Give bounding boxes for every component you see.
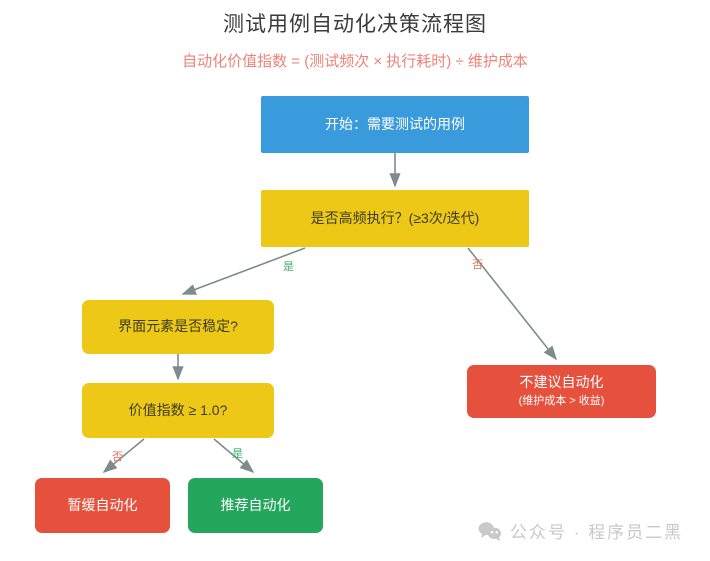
edge-label-freq-yes: 是 (283, 258, 294, 274)
page-title: 测试用例自动化决策流程图 (0, 8, 710, 38)
node-not-recommended-sublabel: (维护成本 > 收益) (519, 395, 605, 409)
node-decision-value-index-label: 价值指数 ≥ 1.0? (129, 402, 228, 420)
node-not-recommended-label: 不建议自动化 (520, 374, 604, 392)
wechat-icon (478, 521, 502, 541)
node-defer-automation-label: 暂缓自动化 (68, 497, 138, 515)
edge-label-freq-no: 否 (472, 256, 483, 272)
node-recommend-automation[interactable]: 推荐自动化 (188, 478, 323, 533)
flowchart-canvas: 测试用例自动化决策流程图 自动化价值指数 = (测试频次 × 执行耗时) ÷ 维… (0, 0, 710, 561)
node-decision-value-index[interactable]: 价值指数 ≥ 1.0? (82, 383, 274, 438)
node-start-label: 开始：需要测试的用例 (325, 116, 465, 134)
node-defer-automation[interactable]: 暂缓自动化 (35, 478, 170, 533)
node-decision-high-frequency[interactable]: 是否高频执行？(≥3次/迭代) (261, 190, 529, 247)
formula-subtitle: 自动化价值指数 = (测试频次 × 执行耗时) ÷ 维护成本 (0, 50, 710, 71)
node-decision-ui-stable-label: 界面元素是否稳定? (118, 318, 238, 336)
edge-label-index-no: 否 (112, 448, 123, 464)
edge-index-to-defer (104, 439, 144, 472)
node-recommend-automation-label: 推荐自动化 (221, 497, 291, 515)
edge-label-index-yes: 是 (232, 445, 243, 461)
node-start[interactable]: 开始：需要测试的用例 (261, 96, 529, 153)
node-not-recommended[interactable]: 不建议自动化 (维护成本 > 收益) (467, 365, 656, 418)
watermark: 公众号 · 程序员二黑 (478, 518, 683, 543)
watermark-text: 公众号 · 程序员二黑 (510, 518, 683, 543)
flowchart-edges (0, 0, 710, 561)
node-decision-high-frequency-label: 是否高频执行？(≥3次/迭代) (311, 210, 480, 228)
node-decision-ui-stable[interactable]: 界面元素是否稳定? (82, 300, 274, 354)
